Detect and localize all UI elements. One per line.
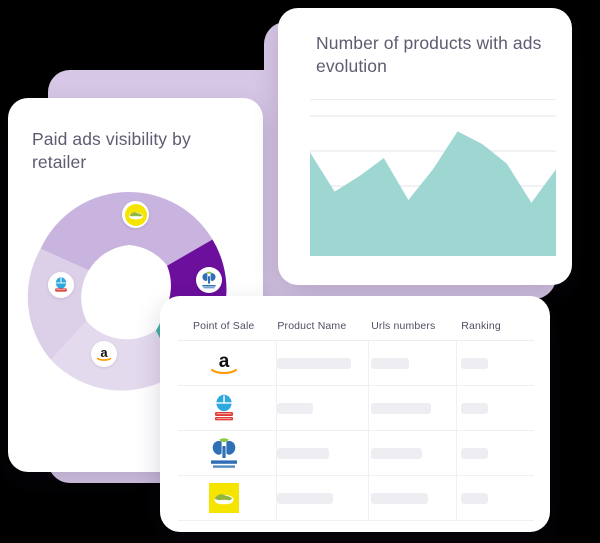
table-row[interactable]: a	[178, 341, 534, 386]
page-title-visibility: Paid ads visibility by retailer	[32, 128, 232, 174]
table-row[interactable]	[178, 431, 534, 476]
table-cell-urls-numbers	[363, 341, 453, 385]
page-title-evolution: Number of products with ads evolution	[316, 32, 556, 78]
table-cell-product-name	[269, 431, 363, 475]
table-cell-point-of-sale	[178, 386, 269, 430]
super-farmacia-logo	[209, 392, 239, 424]
composition-stage: Paid ads visibility by retailer	[0, 0, 600, 543]
table-cell-urls-numbers	[363, 431, 453, 475]
amazon-logo: a	[94, 344, 114, 364]
table-cell-ranking	[453, 386, 534, 430]
column-header-ranking: Ranking	[453, 320, 534, 332]
san-pablo-logo	[199, 270, 219, 290]
ahorro-logo	[209, 483, 239, 513]
data-table: Point of Sale Product Name Urls numbers …	[178, 312, 534, 521]
super-farmacia-logo	[51, 275, 71, 295]
table-row[interactable]	[178, 386, 534, 431]
amazon-logo: a	[207, 350, 241, 376]
donut-badge-amazon: a	[91, 341, 117, 367]
table-cell-point-of-sale	[178, 476, 269, 520]
svg-text:a: a	[218, 351, 229, 372]
table-cell-product-name	[269, 476, 363, 520]
table-cell-point-of-sale: a	[178, 341, 269, 385]
column-header-urls-numbers: Urls numbers	[363, 320, 453, 332]
table-cell-ranking	[453, 341, 534, 385]
chart-divider	[310, 99, 556, 100]
table-cell-point-of-sale	[178, 431, 269, 475]
table-cell-product-name	[269, 341, 363, 385]
table-header-row: Point of Sale Product Name Urls numbers …	[178, 312, 534, 341]
donut-badge-super-farmacia	[48, 272, 74, 298]
table-cell-ranking	[453, 476, 534, 520]
donut-badge-ahorro	[122, 201, 149, 228]
ahorro-logo	[125, 204, 147, 226]
svg-text:a: a	[100, 345, 108, 360]
table-cell-product-name	[269, 386, 363, 430]
table-row[interactable]	[178, 476, 534, 521]
chart-area-series	[310, 131, 556, 256]
area-chart	[310, 112, 556, 272]
column-header-product-name: Product Name	[269, 320, 363, 332]
san-pablo-logo	[207, 436, 241, 470]
table-cell-urls-numbers	[363, 476, 453, 520]
table-cell-urls-numbers	[363, 386, 453, 430]
donut-badge-san-pablo	[196, 267, 222, 293]
column-header-point-of-sale: Point of Sale	[178, 320, 269, 332]
table-cell-ranking	[453, 431, 534, 475]
